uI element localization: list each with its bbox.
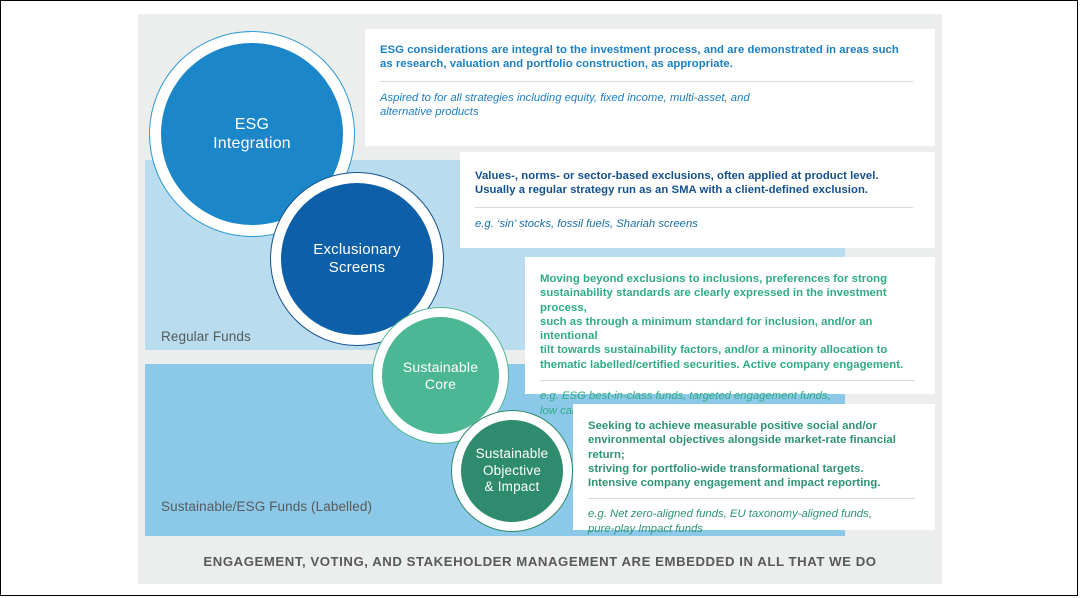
description-card-sustainable-core: Moving beyond exclusions to inclusions, … bbox=[525, 257, 935, 394]
bubble-label: Exclusionary Screens bbox=[307, 241, 406, 277]
card-main-text: Values-, norms- or sector-based exclusio… bbox=[475, 169, 913, 198]
esg-spectrum-diagram: Regular Funds Sustainable/ESG Funds (Lab… bbox=[0, 0, 1080, 598]
card-example-text: Aspired to for all strategies including … bbox=[380, 91, 913, 120]
bubble-label: Sustainable Objective & Impact bbox=[470, 446, 555, 496]
card-main-text: Seeking to achieve measurable positive s… bbox=[588, 419, 915, 490]
divider bbox=[475, 207, 913, 208]
bubble-label: ESG Integration bbox=[207, 115, 297, 153]
bubble-disc: Exclusionary Screens bbox=[281, 183, 433, 335]
divider bbox=[540, 380, 915, 381]
description-card-esg-integration: ESG considerations are integral to the i… bbox=[365, 29, 935, 146]
card-example-text: e.g. ‘sin’ stocks, fossil fuels, Shariah… bbox=[475, 217, 913, 232]
card-example-text: e.g. Net zero-aligned funds, EU taxonomy… bbox=[588, 507, 915, 536]
card-main-text: Moving beyond exclusions to inclusions, … bbox=[540, 272, 915, 372]
band-label-sustainable-funds: Sustainable/ESG Funds (Labelled) bbox=[161, 499, 372, 514]
bubble-disc: Sustainable Objective & Impact bbox=[461, 420, 563, 522]
bubble-label: Sustainable Core bbox=[397, 359, 484, 393]
divider bbox=[588, 498, 915, 499]
description-card-exclusionary-screens: Values-, norms- or sector-based exclusio… bbox=[460, 152, 935, 248]
description-card-sustainable-objective-impact: Seeking to achieve measurable positive s… bbox=[573, 404, 935, 530]
footer-banner-text: ENGAGEMENT, VOTING, AND STAKEHOLDER MANA… bbox=[203, 554, 876, 569]
footer-banner: ENGAGEMENT, VOTING, AND STAKEHOLDER MANA… bbox=[145, 545, 935, 577]
bubble-disc: Sustainable Core bbox=[382, 317, 499, 434]
divider bbox=[380, 81, 913, 82]
band-label-regular-funds: Regular Funds bbox=[161, 329, 251, 344]
bubble-sustainable-objective-impact: Sustainable Objective & Impact bbox=[451, 410, 573, 532]
card-main-text: ESG considerations are integral to the i… bbox=[380, 43, 913, 72]
